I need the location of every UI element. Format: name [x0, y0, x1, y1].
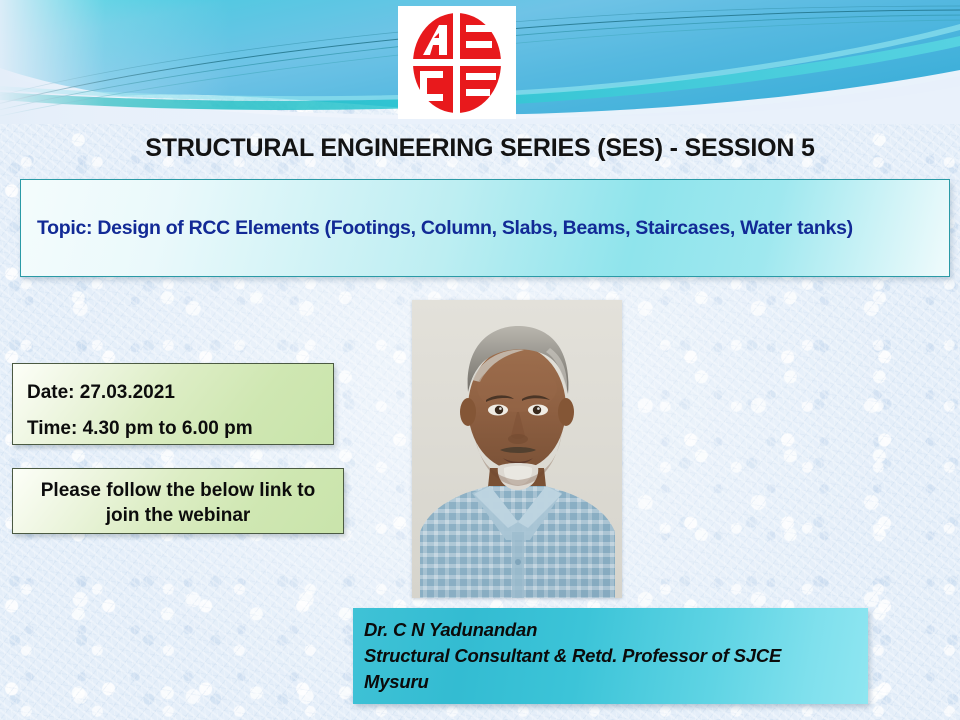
topic-banner: Topic: Design of RCC Elements (Footings,… [20, 179, 950, 277]
speaker-designation: Structural Consultant & Retd. Professor … [364, 643, 868, 669]
speaker-portrait-image [412, 300, 622, 598]
organization-logo [398, 6, 516, 119]
join-link-note-line2: join the webinar [13, 503, 343, 528]
speaker-city: Mysuru [364, 669, 868, 695]
speaker-name: Dr. C N Yadunandan [364, 617, 868, 643]
ace-emblem-icon [409, 11, 505, 115]
time-line: Time: 4.30 pm to 6.00 pm [27, 411, 333, 447]
schedule-box: Date: 27.03.2021 Time: 4.30 pm to 6.00 p… [12, 363, 334, 445]
speaker-photo [412, 300, 622, 598]
join-link-note-line1: Please follow the below link to [13, 478, 343, 503]
webinar-flyer-slide: STRUCTURAL ENGINEERING SERIES (SES) - SE… [0, 0, 960, 720]
date-line: Date: 27.03.2021 [27, 375, 333, 411]
speaker-caption: Dr. C N Yadunandan Structural Consultant… [353, 608, 868, 704]
page-title: STRUCTURAL ENGINEERING SERIES (SES) - SE… [0, 134, 960, 163]
join-link-note: Please follow the below link to join the… [12, 468, 344, 534]
topic-text: Topic: Design of RCC Elements (Footings,… [21, 217, 869, 240]
